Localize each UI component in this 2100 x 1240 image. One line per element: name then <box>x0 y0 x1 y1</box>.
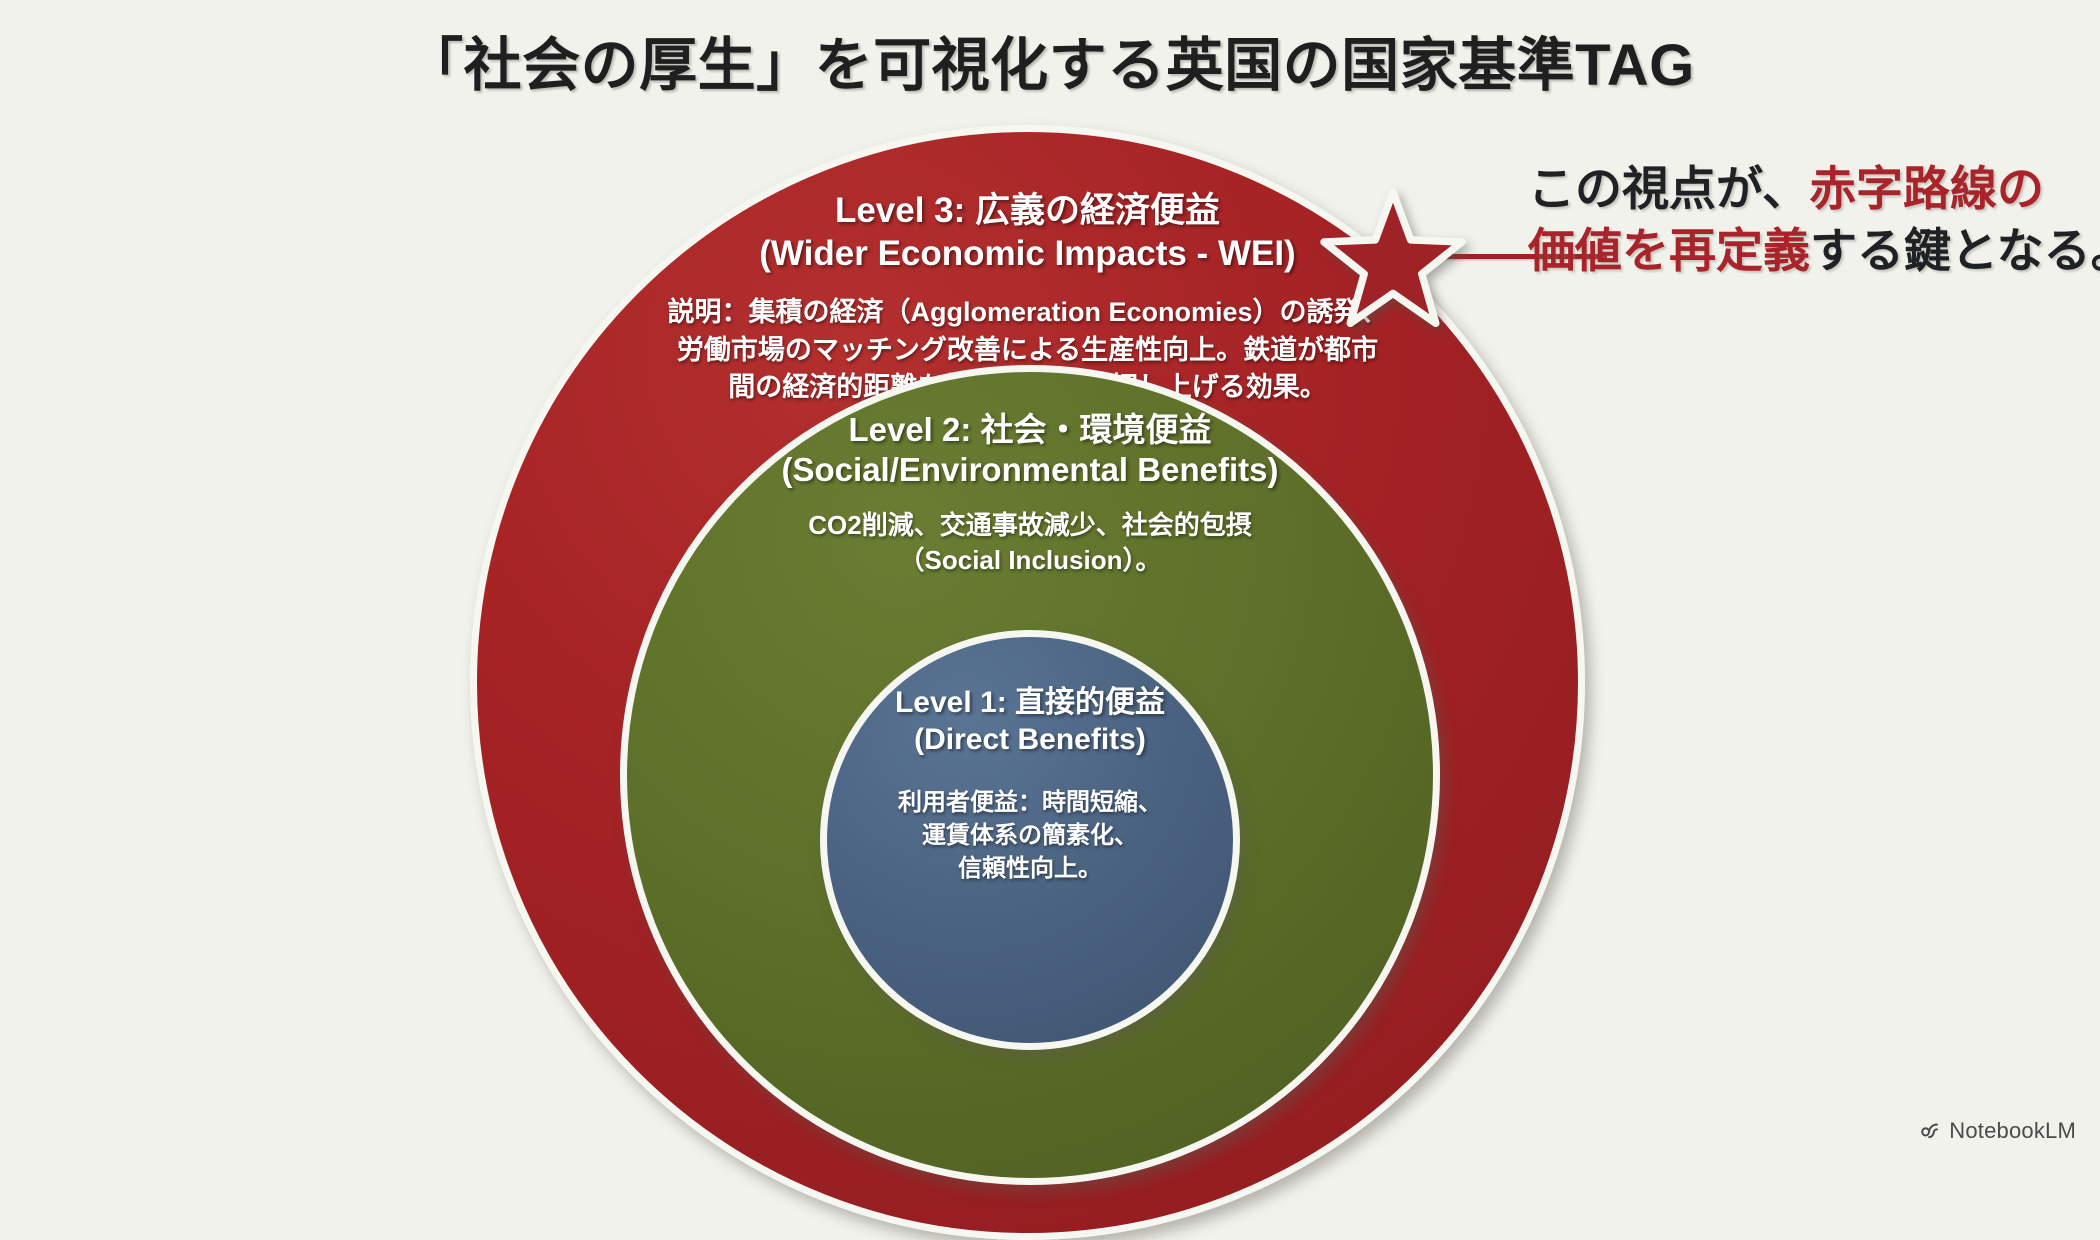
star-icon <box>1318 186 1468 336</box>
callout-note-line-1: この視点が、赤字路線の <box>1528 158 2100 220</box>
callout-line1-highlight: 赤字路線の <box>1809 162 2044 215</box>
callout-note: この視点が、赤字路線の 価値を再定義する鍵となる。 <box>1528 158 2100 282</box>
callout-line2-highlight: 価値を再定義 <box>1528 224 1810 277</box>
callout-line1-plain: この視点が、 <box>1528 162 1809 215</box>
level-1-text-block: Level 1: 直接的便益 (Direct Benefits) 利用者便益：時… <box>843 685 1217 886</box>
notebooklm-label: NotebookLM <box>1949 1118 2076 1144</box>
level-2-heading: Level 2: 社会・環境便益 (Social/Environmental B… <box>659 410 1401 491</box>
level-2-description: CO2削減、交通事故減少、社会的包摂 （Social Inclusion）。 <box>659 508 1401 580</box>
level-2-text-block: Level 2: 社会・環境便益 (Social/Environmental B… <box>659 410 1401 579</box>
notebooklm-spiral-icon <box>1917 1119 1941 1143</box>
callout-note-line-2: 価値を再定義する鍵となる。 <box>1528 220 2100 282</box>
level-1-circle[interactable]: Level 1: 直接的便益 (Direct Benefits) 利用者便益：時… <box>820 630 1240 1050</box>
level-1-description: 利用者便益：時間短縮、 運賃体系の簡素化、 信頼性向上。 <box>843 786 1217 885</box>
notebooklm-watermark: NotebookLM <box>1917 1118 2076 1144</box>
callout-line2-plain: する鍵となる。 <box>1810 224 2100 277</box>
level-1-heading: Level 1: 直接的便益 (Direct Benefits) <box>843 685 1217 758</box>
